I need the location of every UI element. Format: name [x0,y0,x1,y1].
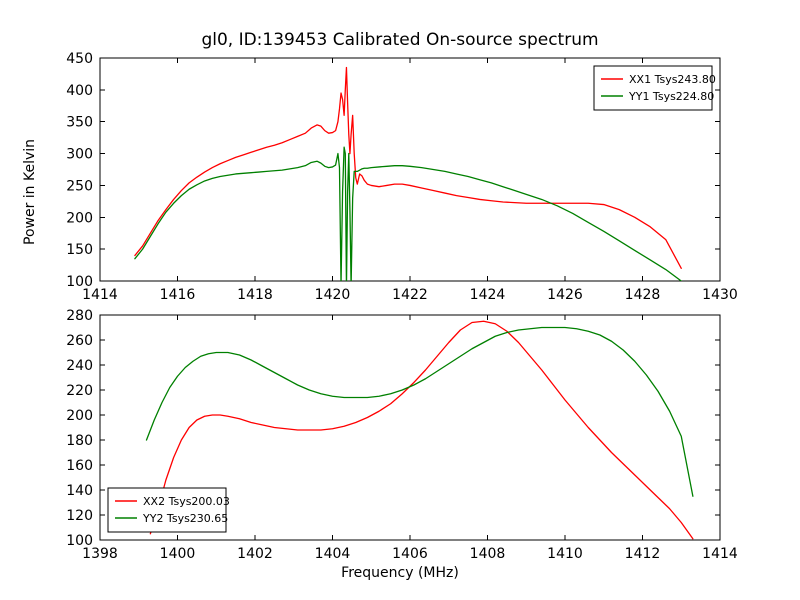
y-tick-label-bottom-7: 240 [66,358,93,374]
y-tick-label-top-0: 100 [66,274,93,290]
y-tick-label-bottom-3: 160 [66,458,93,474]
legend-top[interactable]: XX1 Tsys243.80YY1 Tsys224.80 [594,66,716,110]
y-tick-label-bottom-6: 220 [66,383,93,399]
x-tick-label-top-5: 1424 [470,287,506,303]
x-tick-label-top-4: 1422 [392,287,428,303]
legend-label-top-0: XX1 Tsys243.80 [629,73,716,86]
x-tick-label-top-2: 1418 [237,287,273,303]
y-tick-label-bottom-0: 100 [66,533,93,549]
legend-bottom[interactable]: XX2 Tsys200.03YY2 Tsys230.65 [108,488,230,532]
y-tick-label-top-3: 250 [66,178,93,194]
x-tick-label-bottom-8: 1414 [702,546,738,562]
x-tick-label-top-7: 1428 [625,287,661,303]
x-tick-label-bottom-7: 1412 [625,546,661,562]
legend-label-bottom-0: XX2 Tsys200.03 [143,495,230,508]
y-tick-label-bottom-2: 140 [66,483,93,499]
panel-top: 1414141614181420142214241426142814301001… [66,51,738,303]
y-tick-label-top-1: 150 [66,242,93,258]
x-tick-label-bottom-2: 1402 [237,546,273,562]
x-tick-label-top-3: 1420 [315,287,351,303]
y-tick-label-top-5: 350 [66,115,93,131]
y-tick-label-bottom-4: 180 [66,433,93,449]
panel-bottom: 1398140014021404140614081410141214141001… [66,308,738,562]
figure-canvas: gl0, ID:139453 Calibrated On-source spec… [0,0,800,600]
y-tick-label-top-7: 450 [66,51,93,67]
y-tick-label-bottom-9: 280 [66,308,93,324]
plot-area: 1414141614181420142214241426142814301001… [0,0,800,600]
y-tick-label-bottom-8: 260 [66,333,93,349]
x-tick-label-bottom-5: 1408 [470,546,506,562]
legend-label-top-1: YY1 Tsys224.80 [628,90,714,103]
x-tick-label-top-8: 1430 [702,287,738,303]
y-tick-label-top-2: 200 [66,210,93,226]
x-tick-label-top-1: 1416 [160,287,196,303]
x-tick-label-bottom-4: 1406 [392,546,428,562]
x-tick-label-top-6: 1426 [547,287,583,303]
x-tick-label-bottom-3: 1404 [315,546,351,562]
series-line-bottom-1 [147,328,693,497]
series-line-top-1 [135,147,681,287]
legend-label-bottom-1: YY2 Tsys230.65 [142,512,228,525]
y-tick-label-bottom-1: 120 [66,508,93,524]
y-tick-label-top-4: 300 [66,147,93,163]
y-tick-label-top-6: 400 [66,83,93,99]
x-tick-label-bottom-1: 1400 [160,546,196,562]
y-tick-label-bottom-5: 200 [66,408,93,424]
x-tick-label-bottom-6: 1410 [547,546,583,562]
